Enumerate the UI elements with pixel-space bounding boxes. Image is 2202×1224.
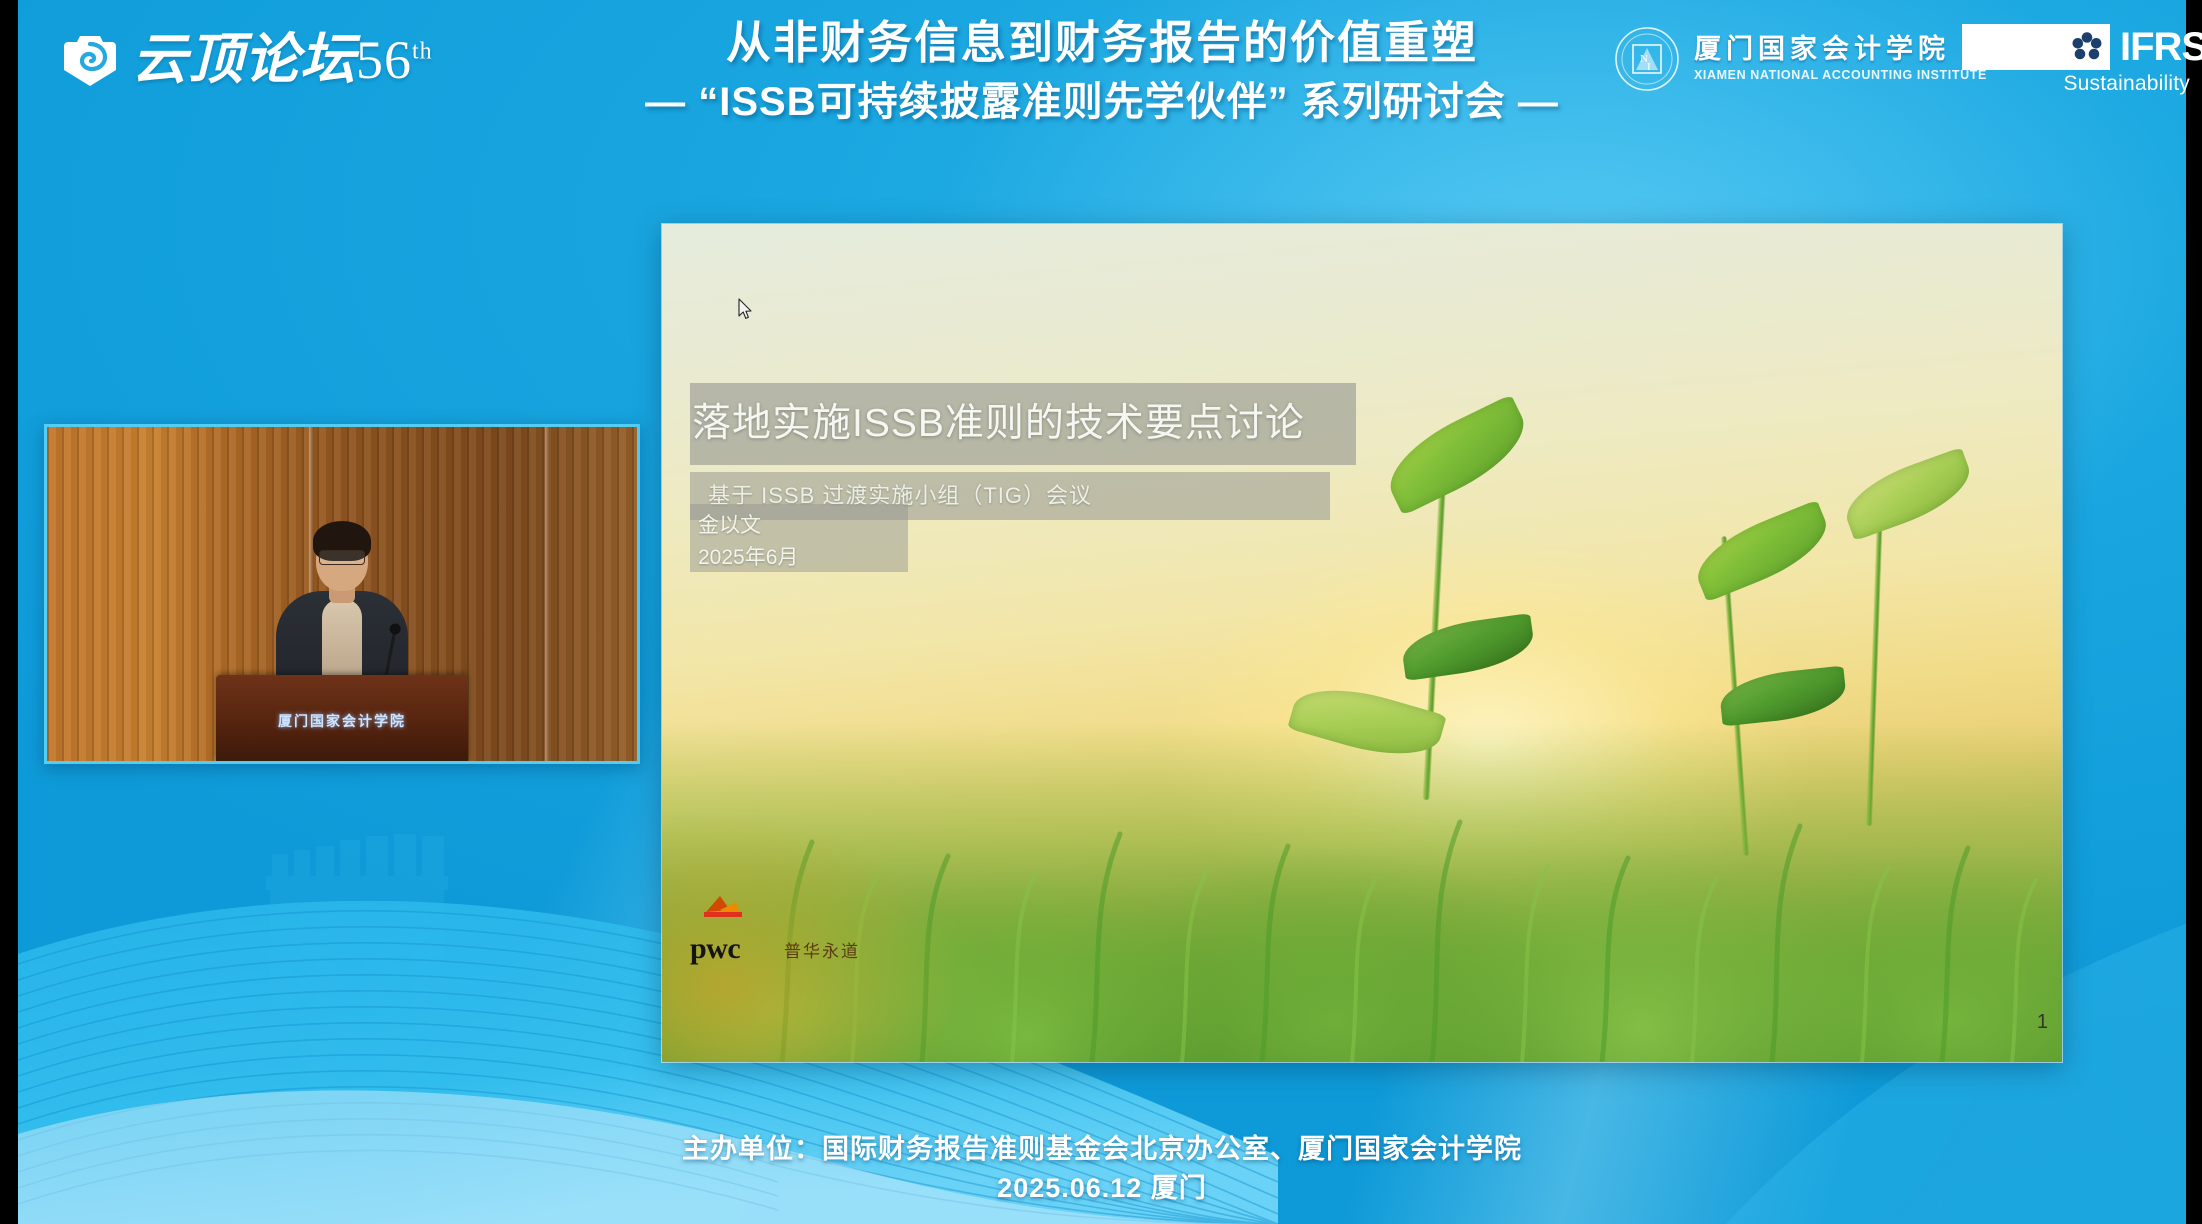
institute-name: 厦门国家会计学院 XIAMEN NATIONAL ACCOUNTING INST… xyxy=(1694,36,1987,82)
pwc-logo: pwc 普华永道 xyxy=(690,886,860,964)
slide-meta: 金以文 2025年6月 xyxy=(698,510,798,574)
broadcast-stage: 云顶论坛56th 从非财务信息到财务报告的价值重塑 — “ISSB可持续披露准则… xyxy=(0,0,2202,1224)
ifrs-logo: IFRS® Sustainability xyxy=(1962,24,2194,96)
footer-date-location: 2025.06.12 厦门 xyxy=(18,1169,2186,1208)
event-footer: 主办单位：国际财务报告准则基金会北京办公室、厦门国家会计学院 2025.06.1… xyxy=(18,1130,2186,1208)
event-title-block: 从非财务信息到财务报告的价值重塑 — “ISSB可持续披露准则先学伙伴” 系列研… xyxy=(442,16,1762,126)
ifrs-white-panel xyxy=(1962,24,2070,70)
ifrs-flower-icon xyxy=(2070,24,2110,70)
forum-edition-suffix: th xyxy=(412,38,433,64)
institute-logo: N I 厦门国家会计学院 XIAMEN NATIONAL ACCOUNTING … xyxy=(1614,26,1987,92)
forum-wordmark: 云顶论坛56th xyxy=(132,34,433,86)
ifrs-wordmark: IFRS® xyxy=(2120,27,2202,67)
hall-seam-right xyxy=(545,427,550,761)
podium-label: 厦门国家会计学院 xyxy=(216,711,468,731)
slide-page-number: 1 xyxy=(2037,1011,2048,1034)
ifrs-tagline: Sustainability xyxy=(1962,72,2190,96)
pwc-logo-icon xyxy=(690,886,754,934)
page-title: 从非财务信息到财务报告的价值重塑 xyxy=(442,16,1762,70)
footer-organizers: 主办单位：国际财务报告准则基金会北京办公室、厦门国家会计学院 xyxy=(18,1130,2186,1169)
pwc-wordmark: pwc xyxy=(690,934,754,964)
ifrs-wordmark-text: IFRS xyxy=(2120,25,2202,69)
page-subtitle: — “ISSB可持续披露准则先学伙伴” 系列研讨会 — xyxy=(442,78,1762,126)
slide-title: 落地实施ISSB准则的技术要点讨论 xyxy=(692,393,1372,455)
forum-edition-number: 56 xyxy=(356,30,412,90)
event-header: 云顶论坛56th 从非财务信息到财务报告的价值重塑 — “ISSB可持续披露准则… xyxy=(18,0,2186,150)
svg-text:I: I xyxy=(1647,61,1651,73)
presentation-slide[interactable]: 落地实施ISSB准则的技术要点讨论 基于 ISSB 过渡实施小组（TIG）会议 … xyxy=(662,224,2062,1062)
podium: 厦门国家会计学院 xyxy=(216,675,468,761)
forum-wordmark-cn: 云顶论坛 xyxy=(132,29,356,90)
speaker-video-pane[interactable]: 厦门国家会计学院 xyxy=(44,424,640,764)
camera-cloud-badge-icon xyxy=(62,28,118,86)
xnai-seal-icon: N I xyxy=(1614,26,1680,92)
slide-presenter: 金以文 xyxy=(698,510,798,542)
institute-name-en: XIAMEN NATIONAL ACCOUNTING INSTITUTE xyxy=(1694,69,1987,82)
forum-logo: 云顶论坛56th xyxy=(62,28,433,86)
speaker-scarf xyxy=(322,599,362,683)
speaker-glasses-icon xyxy=(319,550,365,565)
slide-date: 2025年6月 xyxy=(698,542,798,574)
institute-name-cn: 厦门国家会计学院 xyxy=(1694,36,1987,63)
pwc-name-cn: 普华永道 xyxy=(784,943,860,964)
